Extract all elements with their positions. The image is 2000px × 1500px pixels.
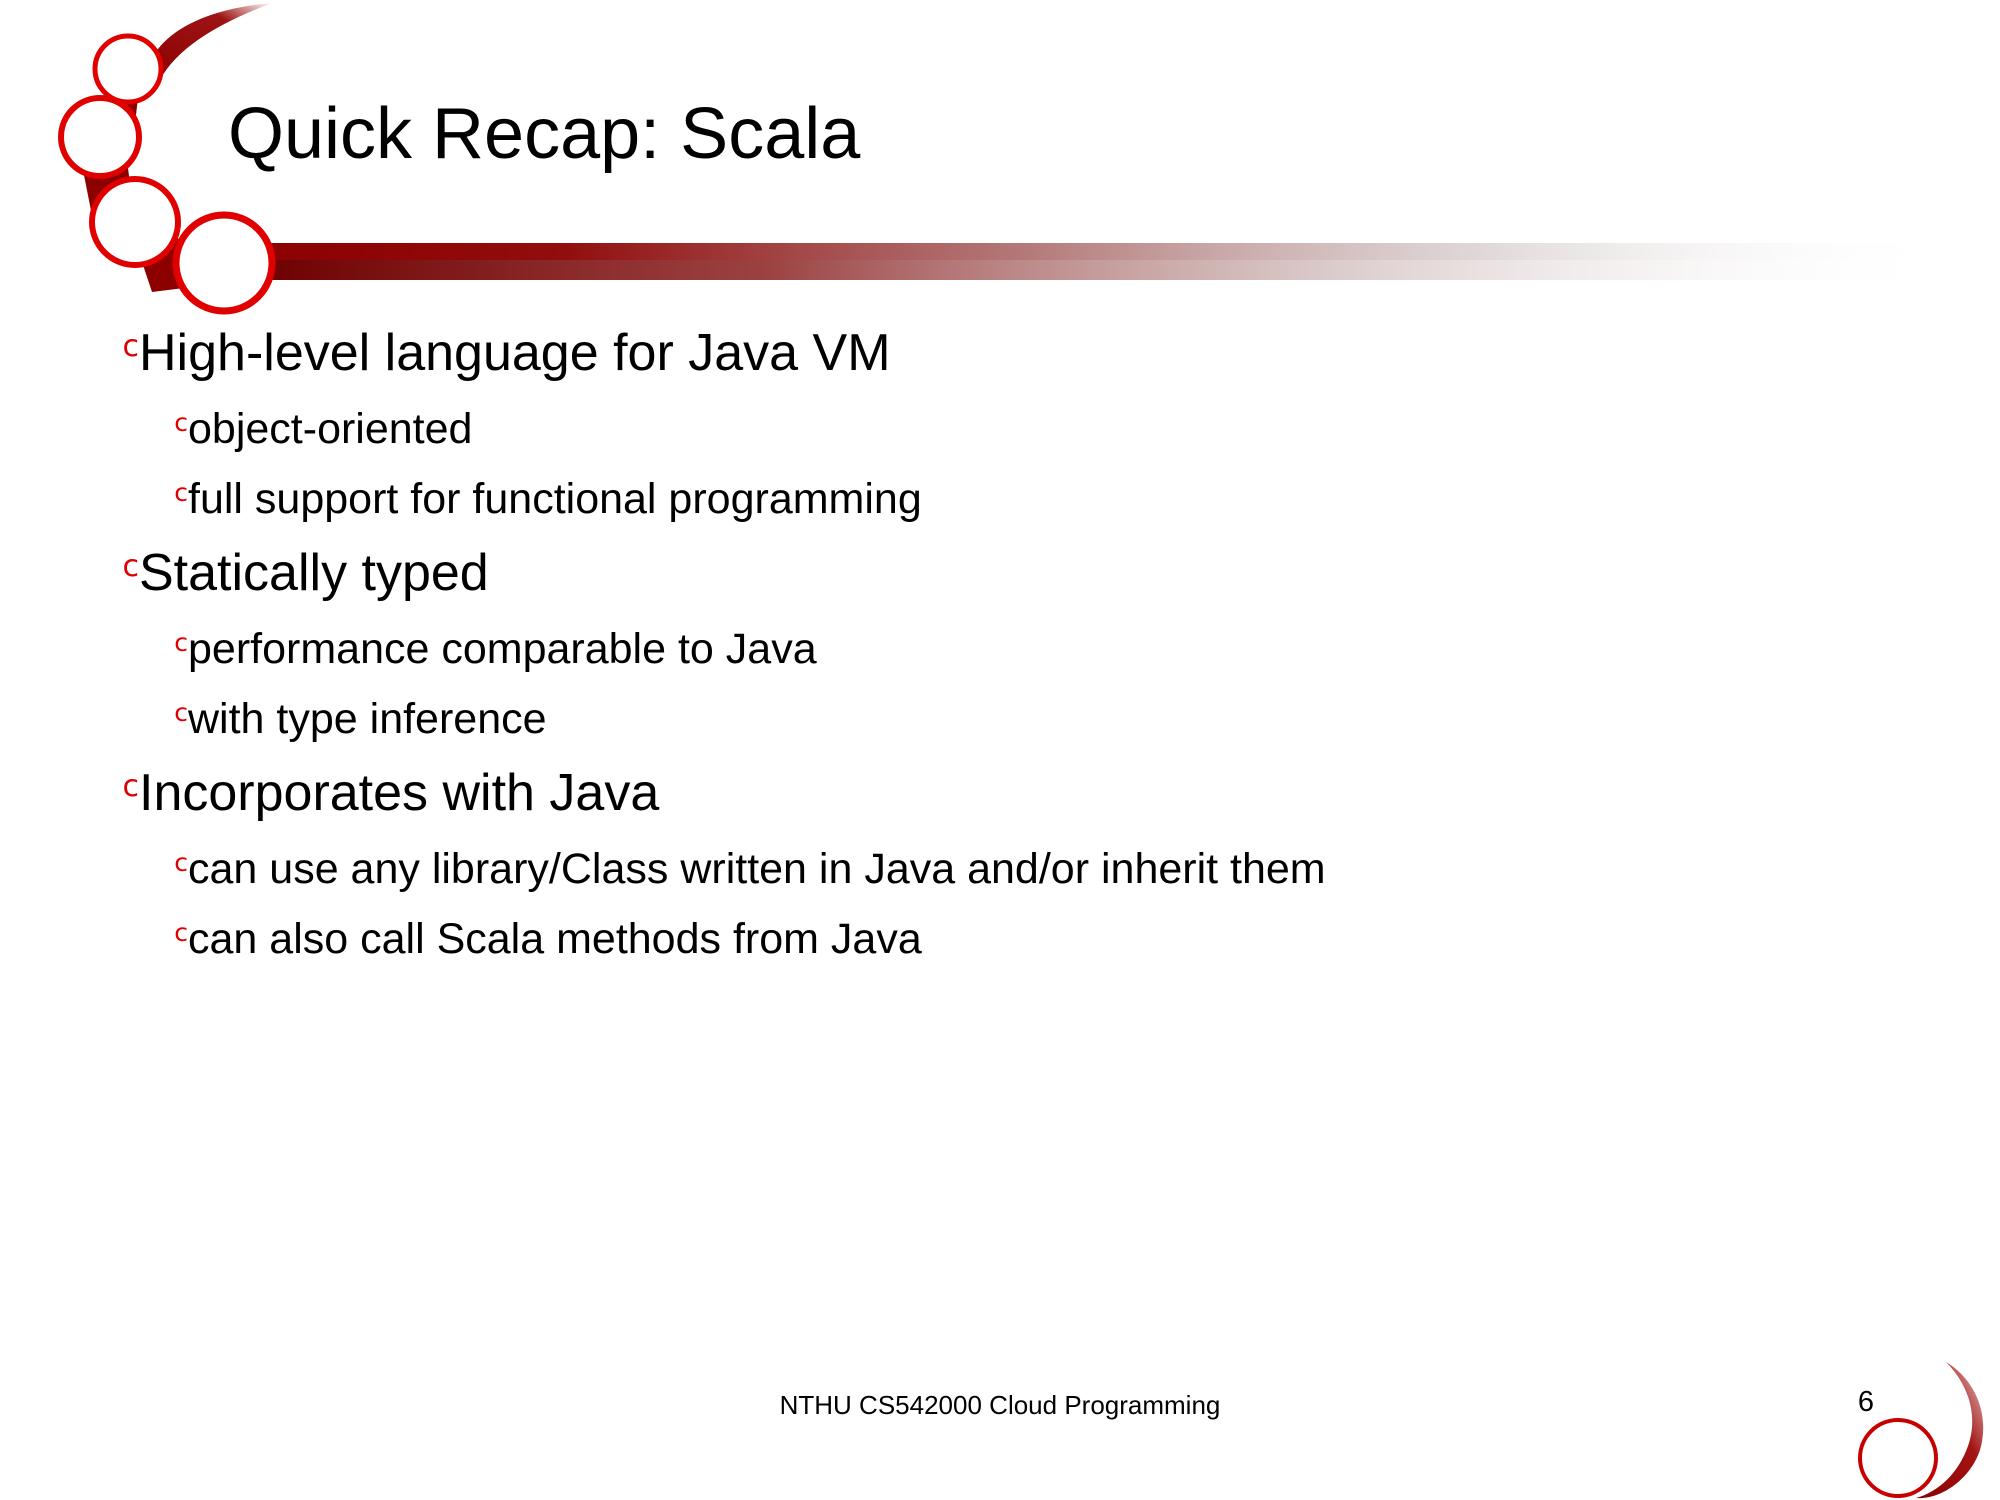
slide-body: ᴐ High-level language for Java VM ᴐ obje… <box>0 318 2000 978</box>
bullet-item-level2: ᴐ object-oriented <box>0 398 2000 466</box>
bullet-marker-icon: ᴐ <box>152 398 188 435</box>
bullet-item-level1: ᴐ High-level language for Java VM <box>0 318 2000 396</box>
bullet-item-level2: ᴐ can also call Scala methods from Java <box>0 908 2000 976</box>
bullet-marker-icon: ᴐ <box>95 758 139 802</box>
bullet-text: full support for functional programming <box>188 468 922 530</box>
bullet-text: Incorporates with Java <box>139 758 659 828</box>
footer-course-label: NTHU CS542000 Cloud Programming <box>0 1390 2000 1421</box>
bullet-marker-icon: ᴐ <box>152 838 188 875</box>
bullet-marker-icon: ᴐ <box>152 688 188 725</box>
bullet-text: can use any library/Class written in Jav… <box>188 838 1326 900</box>
bullet-text: with type inference <box>188 688 547 750</box>
bullet-item-level2: ᴐ performance comparable to Java <box>0 618 2000 686</box>
bullet-marker-icon: ᴐ <box>95 538 139 582</box>
slide-title: Quick Recap: Scala <box>228 98 1728 170</box>
bullet-marker-icon: ᴐ <box>152 908 188 945</box>
bullet-marker-icon: ᴐ <box>152 618 188 655</box>
bullet-text: can also call Scala methods from Java <box>188 908 922 970</box>
bullet-text: High-level language for Java VM <box>139 318 891 388</box>
bullet-text: object-oriented <box>188 398 472 460</box>
deco-tail <box>148 3 272 80</box>
bullet-item-level1: ᴐ Incorporates with Java <box>0 758 2000 836</box>
bullet-marker-icon: ᴐ <box>152 468 188 505</box>
bullet-item-level1: ᴐ Statically typed <box>0 538 2000 616</box>
slide-corner-decoration <box>1820 1350 2000 1500</box>
bullet-text: performance comparable to Java <box>188 618 817 680</box>
bullet-text: Statically typed <box>139 538 489 608</box>
bullet-item-level2: ᴐ can use any library/Class written in J… <box>0 838 2000 906</box>
bullet-marker-icon: ᴐ <box>95 318 139 362</box>
bullet-item-level2: ᴐ full support for functional programmin… <box>0 468 2000 536</box>
slide-canvas: Quick Recap: Scala ᴐ High-level language… <box>0 0 2000 1500</box>
slide-page-number: 6 <box>1836 1386 1896 1419</box>
bullet-item-level2: ᴐ with type inference <box>0 688 2000 756</box>
